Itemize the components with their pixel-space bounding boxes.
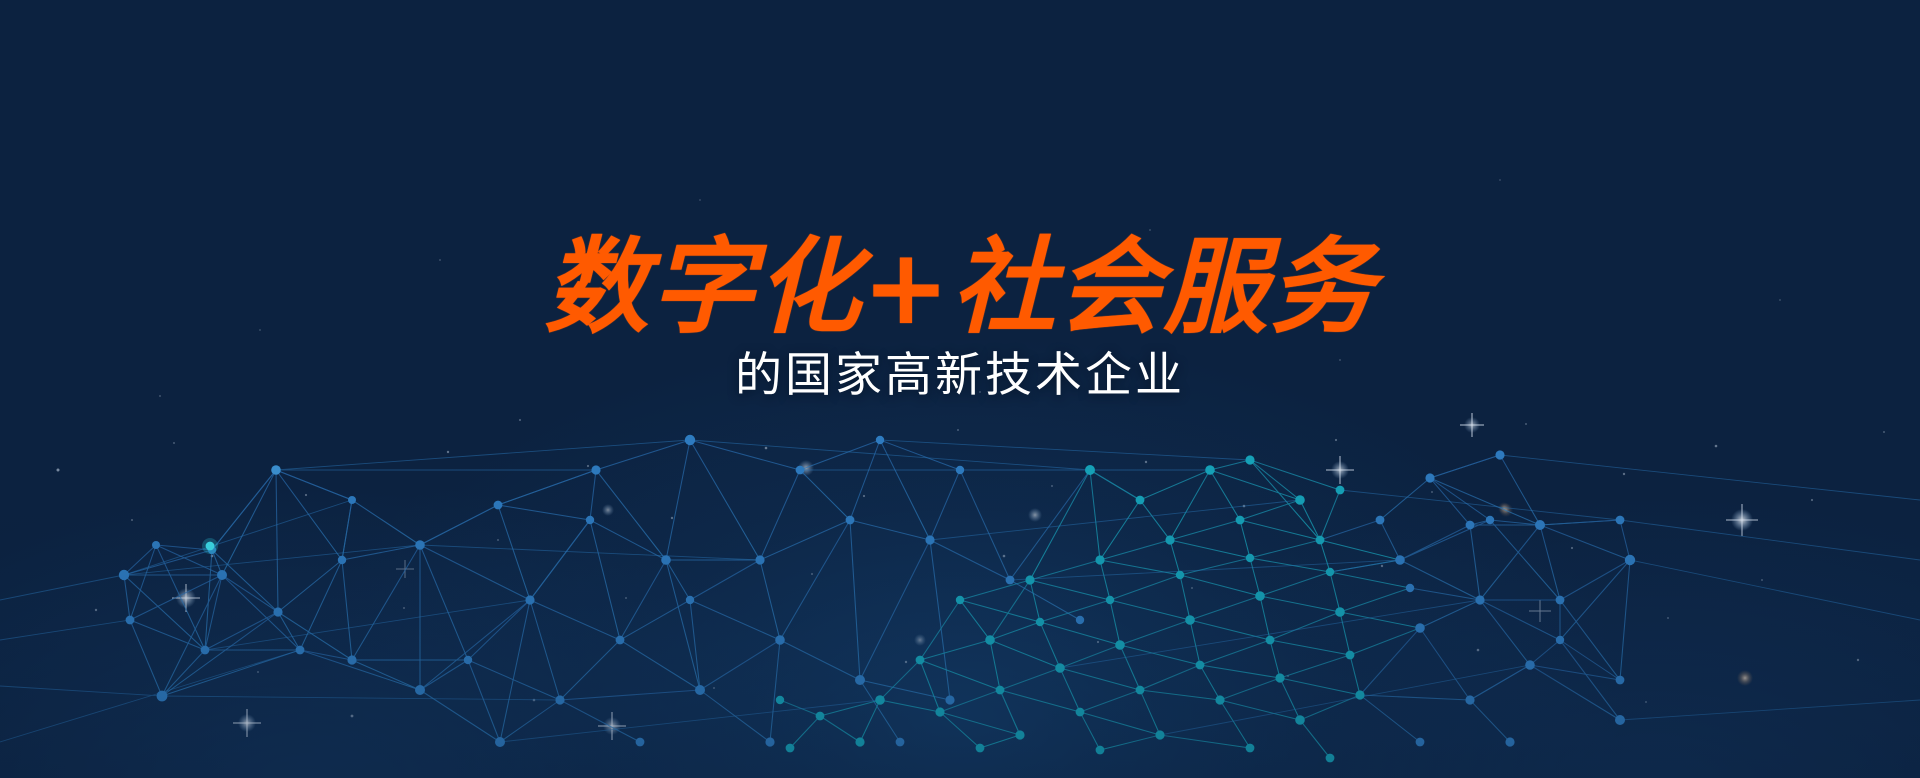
mesh-haze-overlay: [0, 0, 1920, 778]
banner-hero: 数字化+社会服务 的国家高新技术企业: [0, 0, 1920, 778]
